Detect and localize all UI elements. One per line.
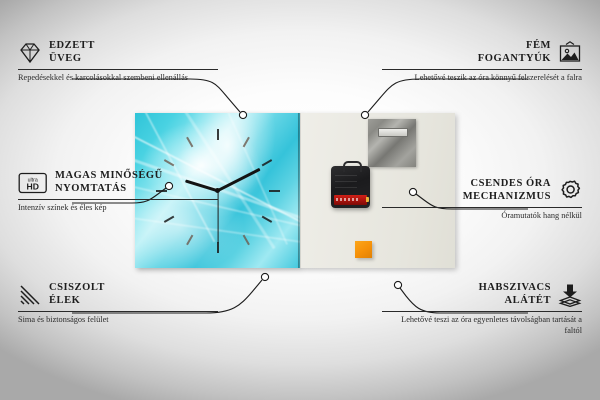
mechanism-loop xyxy=(343,161,362,172)
feature-title: HABSZIVACS ALÁTÉT xyxy=(479,282,551,307)
feature-header: FÉM FOGANTYÚK xyxy=(382,40,582,65)
battery-label xyxy=(336,198,360,201)
mechanism-detail xyxy=(335,187,357,188)
divider xyxy=(382,69,582,70)
mechanism-detail xyxy=(335,175,357,176)
feature-header: CSENDES ÓRA MECHANIZMUS xyxy=(382,178,582,203)
feature-silent-mechanism: CSENDES ÓRA MECHANIZMUS Óramutatók hang … xyxy=(382,178,582,222)
feature-title: EDZETT ÜVEG xyxy=(49,40,95,65)
feature-foam-backing: HABSZIVACS ALÁTÉT Lehetővé teszi az óra … xyxy=(382,282,582,336)
feature-tempered-glass: EDZETT ÜVEG Repedésekkel és karcolásokka… xyxy=(18,40,218,84)
feature-description: Lehetővé teszik az óra könnyű felszerelé… xyxy=(382,73,582,84)
metal-hanger xyxy=(368,119,416,167)
panel-seam xyxy=(298,113,301,268)
foam-pad xyxy=(355,241,372,258)
infographic-canvas: EDZETT ÜVEG Repedésekkel és karcolásokka… xyxy=(0,0,600,400)
feature-title: FÉM FOGANTYÚK xyxy=(478,40,551,65)
foam-pad-icon xyxy=(558,283,582,307)
feature-title: MAGAS MINŐSÉGŰ NYOMTATÁS xyxy=(55,170,163,195)
divider xyxy=(382,207,582,208)
diamond-icon xyxy=(18,41,42,65)
feature-title: CSENDES ÓRA MECHANIZMUS xyxy=(463,178,551,203)
feature-header: ultra HD MAGAS MINŐSÉGŰ NYOMTATÁS xyxy=(18,170,218,195)
gear-icon xyxy=(558,179,582,203)
feature-description: Lehetővé teszi az óra egyenletes távolsá… xyxy=(382,315,582,336)
hanger-slot xyxy=(378,128,408,137)
ultra-hd-icon: ultra HD xyxy=(18,171,48,195)
divider xyxy=(18,69,218,70)
divider xyxy=(18,199,218,200)
feature-description: Óramutatók hang nélkül xyxy=(382,211,582,222)
feature-polished-edges: CSISZOLT ÉLEK Sima és biztonságos felüle… xyxy=(18,282,218,326)
battery-terminal xyxy=(366,197,369,202)
feature-metal-handles: FÉM FOGANTYÚK Lehetővé teszik az óra kön… xyxy=(382,40,582,84)
feature-description: Repedésekkel és karcolásokkal szembeni e… xyxy=(18,73,218,84)
mechanism-detail xyxy=(335,181,357,182)
divider xyxy=(18,311,218,312)
feature-description: Sima és biztonságos felület xyxy=(18,315,218,326)
divider xyxy=(382,311,582,312)
svg-text:HD: HD xyxy=(26,181,38,191)
clock-mechanism xyxy=(331,166,370,208)
clock-tick xyxy=(218,190,280,192)
feature-header: EDZETT ÜVEG xyxy=(18,40,218,65)
feature-title: CSISZOLT ÉLEK xyxy=(49,282,105,307)
picture-hanger-icon xyxy=(558,41,582,65)
feature-header: HABSZIVACS ALÁTÉT xyxy=(382,282,582,307)
feature-header: CSISZOLT ÉLEK xyxy=(18,282,218,307)
battery xyxy=(334,195,367,205)
feature-high-quality-print: ultra HD MAGAS MINŐSÉGŰ NYOMTATÁS Intenz… xyxy=(18,170,218,214)
feature-description: Intenzív színek és éles kép xyxy=(18,203,218,214)
polished-edges-icon xyxy=(18,283,42,307)
